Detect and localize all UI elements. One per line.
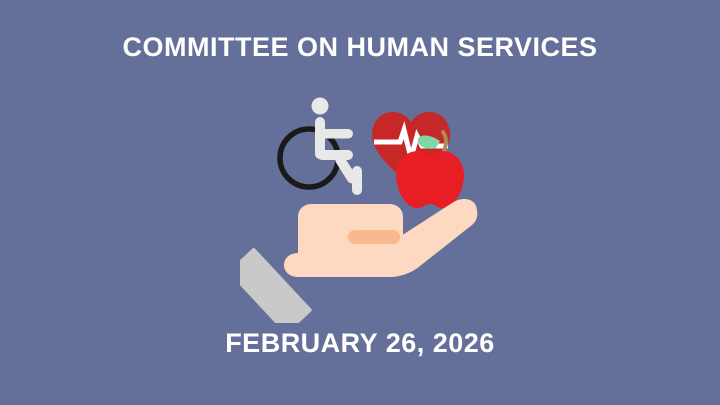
wheelchair-arm-icon: [320, 129, 353, 139]
hand-holding-health-icons: [240, 58, 505, 323]
hand-thumb-crease-icon: [348, 230, 400, 244]
presentation-slide: COMMITTEE ON HUMAN SERVICES: [0, 0, 720, 405]
event-date: FEBRUARY 26, 2026: [0, 327, 720, 359]
apple-body-icon: [396, 151, 464, 208]
open-hand-icon: [240, 199, 477, 323]
wheelchair-accessibility-icon: [280, 98, 362, 196]
wheelchair-foot-icon: [352, 166, 362, 195]
wheelchair-head-icon: [312, 98, 329, 115]
wheelchair-thigh-icon: [317, 150, 353, 160]
